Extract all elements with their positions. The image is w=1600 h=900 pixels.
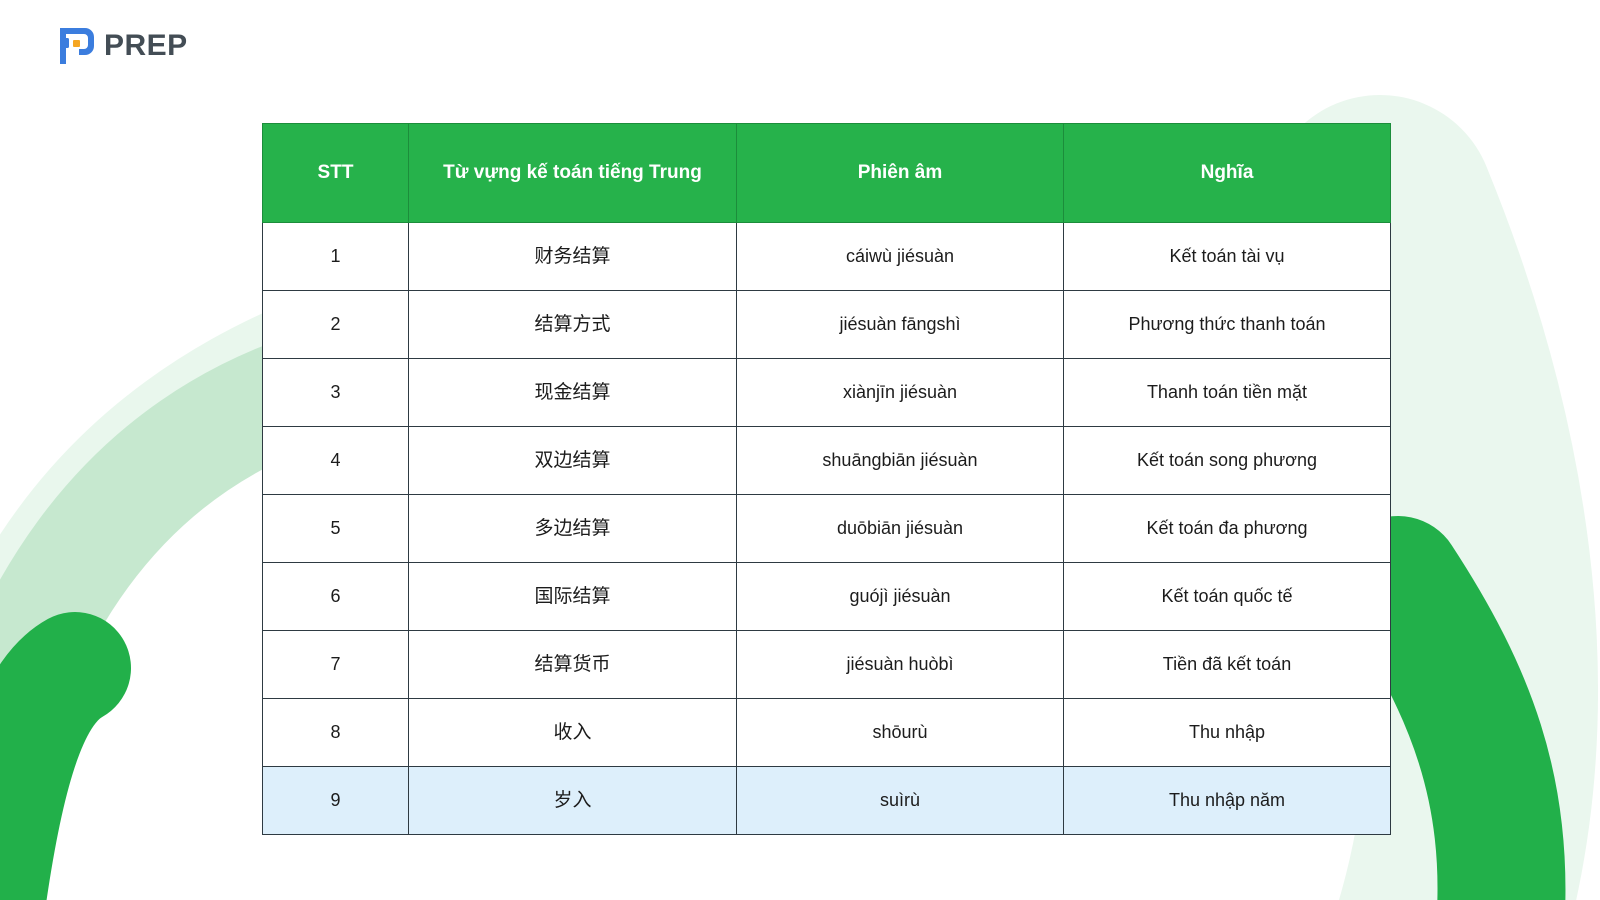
cell-meaning: Kết toán quốc tế <box>1064 563 1391 631</box>
cell-meaning: Thanh toán tiền mặt <box>1064 359 1391 427</box>
column-header-stt: STT <box>263 124 409 223</box>
column-header-meaning: Nghĩa <box>1064 124 1391 223</box>
table-row: 1财务结算cáiwù jiésuànKết toán tài vụ <box>263 223 1391 291</box>
table-row: 5多边结算duōbiān jiésuànKết toán đa phương <box>263 495 1391 563</box>
cell-index: 1 <box>263 223 409 291</box>
cell-index: 5 <box>263 495 409 563</box>
cell-hanzi: 国际结算 <box>409 563 737 631</box>
cell-pinyin: cáiwù jiésuàn <box>737 223 1064 291</box>
cell-index: 7 <box>263 631 409 699</box>
table-head: STT Từ vựng kế toán tiếng Trung Phiên âm… <box>263 124 1391 223</box>
vocabulary-table-container: STT Từ vựng kế toán tiếng Trung Phiên âm… <box>262 123 1390 835</box>
cell-index: 8 <box>263 699 409 767</box>
table-row: 4双边结算shuāngbiān jiésuànKết toán song phư… <box>263 427 1391 495</box>
cell-pinyin: jiésuàn fāngshì <box>737 291 1064 359</box>
cell-hanzi: 结算方式 <box>409 291 737 359</box>
table-row: 8收入shōurùThu nhập <box>263 699 1391 767</box>
brand-logo[interactable]: PREP <box>57 24 188 68</box>
table-row: 2结算方式jiésuàn fāngshìPhương thức thanh to… <box>263 291 1391 359</box>
column-header-hanzi: Từ vựng kế toán tiếng Trung <box>409 124 737 223</box>
vocabulary-table: STT Từ vựng kế toán tiếng Trung Phiên âm… <box>262 123 1391 835</box>
brand-name: PREP <box>104 31 188 61</box>
cell-pinyin: shuāngbiān jiésuàn <box>737 427 1064 495</box>
cell-hanzi: 财务结算 <box>409 223 737 291</box>
cell-index: 9 <box>263 767 409 835</box>
cell-pinyin: jiésuàn huòbì <box>737 631 1064 699</box>
right-arc-light <box>1380 210 1483 900</box>
cell-index: 6 <box>263 563 409 631</box>
cell-meaning: Phương thức thanh toán <box>1064 291 1391 359</box>
prep-logo-icon <box>57 25 97 67</box>
cell-meaning: Thu nhập <box>1064 699 1391 767</box>
table-row: 3现金结算xiànjīn jiésuànThanh toán tiền mặt <box>263 359 1391 427</box>
cell-index: 2 <box>263 291 409 359</box>
cell-meaning: Thu nhập năm <box>1064 767 1391 835</box>
cell-hanzi: 现金结算 <box>409 359 737 427</box>
cell-pinyin: suìrù <box>737 767 1064 835</box>
cell-pinyin: xiànjīn jiésuàn <box>737 359 1064 427</box>
cell-pinyin: guójì jiésuàn <box>737 563 1064 631</box>
cell-meaning: Kết toán tài vụ <box>1064 223 1391 291</box>
cell-hanzi: 多边结算 <box>409 495 737 563</box>
right-arc-solid <box>1398 580 1502 900</box>
column-header-pinyin: Phiên âm <box>737 124 1064 223</box>
cell-index: 3 <box>263 359 409 427</box>
left-arc-solid <box>0 668 75 900</box>
cell-hanzi: 岁入 <box>409 767 737 835</box>
cell-pinyin: duōbiān jiésuàn <box>737 495 1064 563</box>
table-row: 6国际结算guójì jiésuànKết toán quốc tế <box>263 563 1391 631</box>
table-row: 7结算货币jiésuàn huòbìTiền đã kết toán <box>263 631 1391 699</box>
table-header-row: STT Từ vựng kế toán tiếng Trung Phiên âm… <box>263 124 1391 223</box>
cell-hanzi: 结算货币 <box>409 631 737 699</box>
cell-meaning: Tiền đã kết toán <box>1064 631 1391 699</box>
cell-meaning: Kết toán song phương <box>1064 427 1391 495</box>
cell-meaning: Kết toán đa phương <box>1064 495 1391 563</box>
table-body: 1财务结算cáiwù jiésuànKết toán tài vụ2结算方式ji… <box>263 223 1391 835</box>
cell-hanzi: 收入 <box>409 699 737 767</box>
table-row: 9岁入suìrùThu nhập năm <box>263 767 1391 835</box>
cell-index: 4 <box>263 427 409 495</box>
cell-hanzi: 双边结算 <box>409 427 737 495</box>
cell-pinyin: shōurù <box>737 699 1064 767</box>
